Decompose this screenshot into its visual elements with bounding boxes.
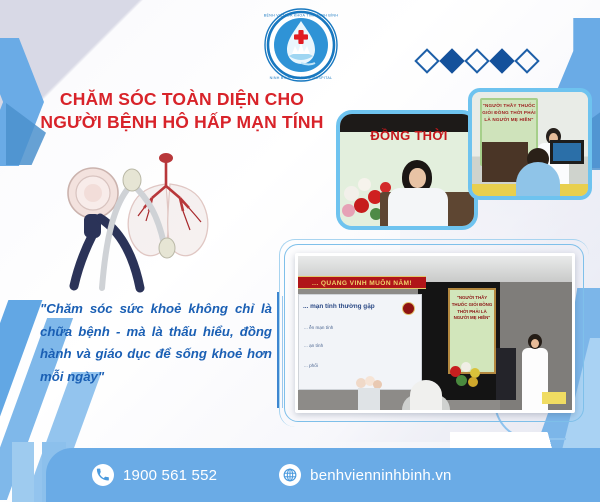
quote-divider-light	[282, 296, 283, 408]
footer-notch-decor	[450, 432, 600, 448]
photo3-slide-title: ... mạn tính thường gặp	[303, 303, 375, 310]
photo3-emblem-icon	[402, 302, 415, 315]
photo1-speaker-face	[409, 168, 426, 188]
photo-doctor-podium: ĐỒNG THỜI	[336, 110, 478, 230]
photo1-banner-text: ĐỒNG THỜI	[350, 128, 468, 144]
globe-icon	[279, 464, 301, 486]
footer-phone-text: 1900 561 552	[123, 467, 217, 484]
footer-phone[interactable]: 1900 561 552	[92, 464, 217, 486]
photo3-flowers	[448, 360, 488, 390]
phone-icon	[92, 464, 114, 486]
footer-website[interactable]: benhvienninhbinh.vn	[279, 464, 451, 486]
photo3-red-banner: ... QUANG VINH MUÔN NĂM!	[298, 276, 426, 289]
headline-line-2: NGƯỜI BỆNH HÔ HẤP MẠN TÍNH	[32, 111, 332, 134]
poster-canvas: BỆNH VIỆN ĐA KHOA TỈNH NINH BÌNH NINH BI…	[0, 0, 600, 502]
photo-conference-hall: ... mạn tính thường gặp ... ễn mạn tính …	[295, 253, 575, 413]
footer-stripe-1	[12, 442, 34, 502]
photo3-slide-line-3: ... phổi	[304, 363, 318, 368]
quote-divider	[277, 292, 279, 408]
quote-text: "Chăm sóc sức khoẻ không chỉ là chữa bện…	[40, 298, 272, 389]
photo-doctor-speaking: "NGƯỜI THẦY THUỐC GIỎI ĐỒNG THỜI PHẢI LÀ…	[468, 88, 592, 200]
logo-bottom-text: NINH BINH GENERAL HOSPITAL	[270, 76, 333, 80]
photo3-slide-line-1: ... ễn mạn tính	[304, 325, 333, 330]
photo3-presenter-face	[531, 339, 539, 348]
stethoscope-lungs-illustration	[48, 140, 268, 300]
stethoscope-lungs-icon	[48, 140, 268, 300]
photo2-monitor	[550, 140, 584, 164]
diamond-icon-5	[514, 48, 539, 73]
diamond-icon-1	[414, 48, 439, 73]
photo3-yellow-chair	[542, 392, 566, 404]
logo-top-text: BỆNH VIỆN ĐA KHOA TỈNH NINH BÌNH	[264, 13, 339, 18]
photo3-vase	[358, 388, 380, 410]
diamond-icon-4	[489, 48, 514, 73]
headline: CHĂM SÓC TOÀN DIỆN CHO NGƯỜI BỆNH HÔ HẤP…	[32, 88, 332, 134]
diamond-icon-2	[439, 48, 464, 73]
footer-bar: 1900 561 552 benhvienninhbinh.vn	[46, 448, 600, 502]
footer-website-text: benhvienninhbinh.vn	[310, 467, 451, 484]
photo3-speaker-stand	[496, 348, 516, 400]
photo3-slide-line-2: ... ạn tính	[304, 343, 323, 348]
photo1-speaker-body	[388, 188, 448, 230]
headline-line-1: CHĂM SÓC TOÀN DIỆN CHO	[32, 88, 332, 111]
hospital-emblem-icon: BỆNH VIỆN ĐA KHOA TỈNH NINH BÌNH NINH BI…	[263, 6, 339, 84]
diamond-decor-group	[418, 52, 536, 70]
hospital-logo: BỆNH VIỆN ĐA KHOA TỈNH NINH BÌNH NINH BI…	[263, 6, 339, 84]
photo3-attendee-head	[410, 380, 442, 410]
diamond-icon-3	[464, 48, 489, 73]
